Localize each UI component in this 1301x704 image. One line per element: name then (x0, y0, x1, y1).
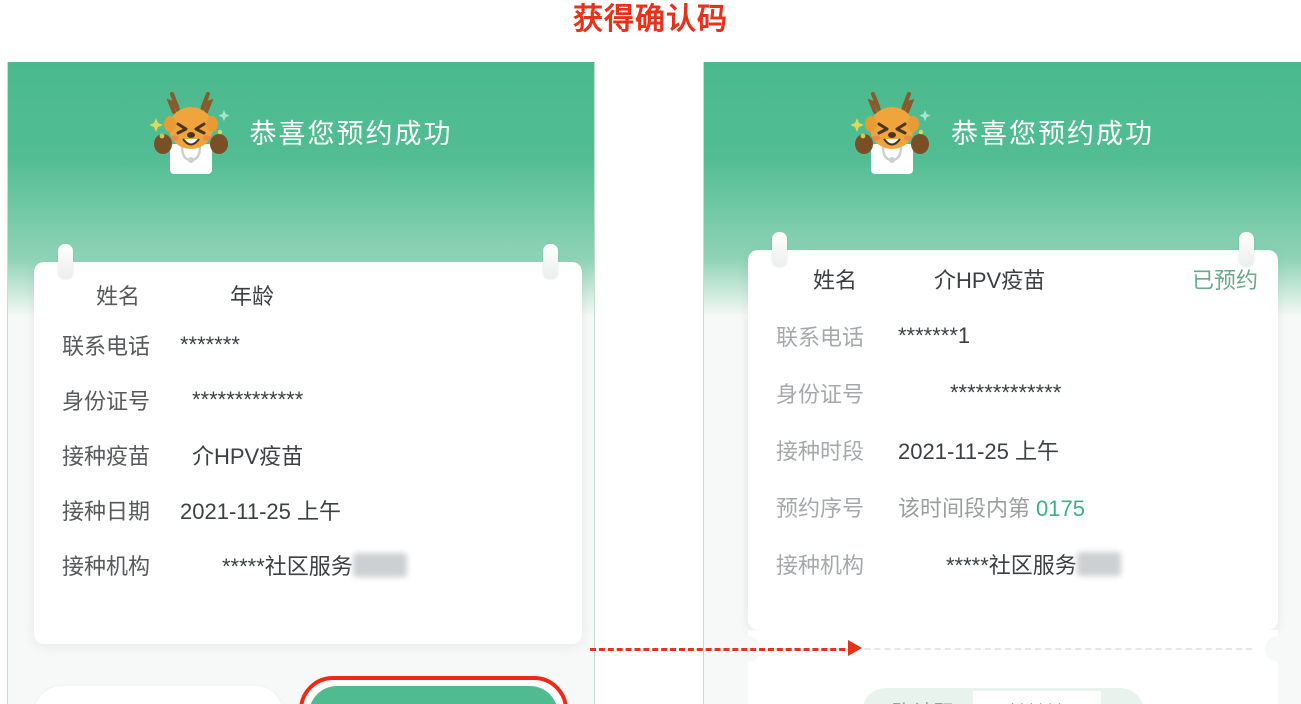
confirmation-code-pill[interactable]: 确认码 ****** (862, 688, 1144, 704)
row-value: ************* (192, 387, 303, 413)
row-label: 姓名 (62, 279, 174, 311)
row-value: 2021-11-25 上午 (898, 434, 1059, 466)
row-label: 联系电话 (62, 329, 174, 361)
confirmation-code-label: 确认码 (892, 697, 955, 704)
row-value: 介HPV疫苗 (192, 439, 303, 471)
row-label: 预约序号 (776, 491, 894, 523)
ticket-pin-left-icon (772, 232, 787, 266)
redacted-org-name: xx (1077, 552, 1121, 576)
row-label: 接种疫苗 (62, 439, 174, 471)
ticket-pin-right-icon (1239, 232, 1254, 266)
left-appointment-card: 姓名 年龄 联系电话 ******* 身份证号 ************* 接种… (34, 262, 582, 644)
back-to-vaccine-home-button[interactable]: 返回疫苗首页 (34, 686, 283, 704)
ticket-notch-right-icon (1265, 636, 1291, 662)
sequence-number: 0175 (1036, 496, 1085, 521)
confirmation-code-stub: 确认码 ****** (748, 630, 1278, 704)
table-row: 身份证号 ************* (34, 372, 582, 427)
row-value: *****社区服务 (222, 549, 353, 581)
left-hero-text: 恭喜您预约成功 (250, 112, 453, 151)
row-label: 接种日期 (62, 494, 174, 526)
row-value: *******1 (898, 323, 970, 349)
row-value-container: 该时间段内第0175 (898, 491, 1085, 523)
row-label: 接种时段 (776, 434, 894, 466)
right-appointment-card: 姓名 介HPV疫苗 已预约 联系电话 *******1 身份证号 *******… (748, 250, 1278, 630)
table-row: 接种机构 *****社区服务xx (748, 535, 1278, 592)
row-label: 接种机构 (776, 548, 894, 580)
screenshot-root: 获得确认码 (0, 0, 1301, 704)
right-phone-panel: 恭喜您预约成功 姓名 介HPV疫苗 已预约 联系电话 *******1 身份证号… (703, 62, 1301, 704)
redacted-org-name: xx (353, 553, 407, 577)
row-value: 年龄 (230, 279, 274, 311)
row-value: 2021-11-25 上午 (180, 494, 341, 526)
page-title: 获得确认码 (0, 0, 1301, 38)
row-value: 介HPV疫苗 (934, 263, 1045, 295)
highlight-box: 查看预约详情 (299, 676, 568, 704)
flow-arrow-head-icon (848, 640, 862, 656)
row-label: 身份证号 (62, 384, 174, 416)
row-value: ************* (950, 380, 1061, 406)
table-row: 身份证号 ************* (748, 364, 1278, 421)
row-value: ******* (180, 332, 240, 358)
table-row: 联系电话 ******* (34, 317, 582, 372)
deer-doctor-mascot-icon (851, 88, 933, 174)
right-hero-text: 恭喜您预约成功 (951, 112, 1154, 151)
table-row: 接种时段 2021-11-25 上午 (748, 421, 1278, 478)
left-phone-panel: 恭喜您预约成功 姓名 年龄 联系电话 ******* 身份证号 ********… (7, 62, 595, 704)
table-row: 姓名 介HPV疫苗 已预约 (748, 250, 1278, 307)
status-badge: 已预约 (1192, 263, 1278, 295)
sequence-prefix: 该时间段内第 (898, 496, 1030, 521)
ticket-pin-left-icon (58, 244, 73, 278)
confirmation-code-value: ****** (973, 691, 1101, 704)
table-row: 接种机构 *****社区服务xx (34, 537, 582, 592)
table-row: 接种日期 2021-11-25 上午 (34, 482, 582, 537)
row-label: 接种机构 (62, 549, 174, 581)
table-row: 联系电话 *******1 (748, 307, 1278, 364)
row-label: 联系电话 (776, 320, 894, 352)
view-appointment-details-button[interactable]: 查看预约详情 (309, 686, 558, 704)
deer-doctor-mascot-icon (150, 88, 232, 174)
table-row: 接种疫苗 介HPV疫苗 (34, 427, 582, 482)
row-label: 姓名 (776, 263, 894, 295)
ticket-pin-right-icon (543, 244, 558, 278)
row-value: *****社区服务 (946, 548, 1077, 580)
left-button-bar: 返回疫苗首页 查看预约详情 (8, 676, 594, 704)
flow-arrow-line (590, 648, 854, 651)
table-row: 姓名 年龄 (34, 262, 582, 317)
row-label: 身份证号 (776, 377, 894, 409)
table-row: 预约序号 该时间段内第0175 (748, 478, 1278, 535)
